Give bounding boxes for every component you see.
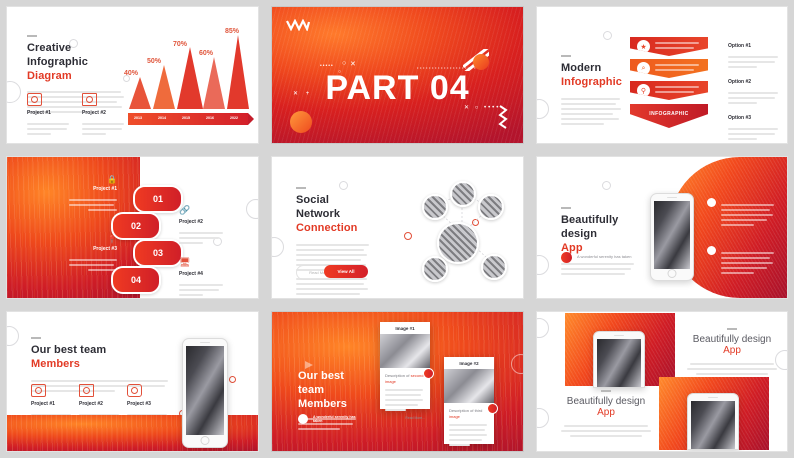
step-number-label: 03	[153, 248, 163, 258]
card-header: Image #1	[380, 322, 430, 334]
search-icon: ⌕	[637, 62, 650, 75]
project-label: Project #3	[127, 401, 171, 407]
chart-bar	[227, 35, 249, 109]
slide-beautifully-design-app-phone[interactable]: Beautifully design App A wonderful seren…	[536, 156, 788, 299]
slide-beautifully-design-app-duo[interactable]: Beautifully design App Beautifully desig…	[536, 311, 788, 452]
image-card[interactable]: Image #1 Description of second image Rea…	[380, 322, 430, 409]
step-block[interactable]: 🔗 Project #2	[179, 205, 225, 247]
step-number-label: 02	[131, 221, 141, 231]
slide-part-04-cover[interactable]: ••••• ○ ✕ ○○ ✕ + •••••••••••••••••••• ✕ …	[271, 6, 524, 144]
decor-ring	[6, 81, 21, 103]
project-desc	[27, 123, 73, 135]
page-title: Creative Infographic Diagram	[27, 42, 125, 83]
title-line-1: Creative Infographic	[27, 42, 88, 68]
card-caption: Description of third image	[449, 408, 489, 420]
band-text	[655, 86, 702, 96]
chart-value-label: 40%	[124, 70, 138, 77]
step-label: Project #1	[69, 186, 117, 192]
chart-bar	[129, 77, 151, 109]
title-line-2: Diagram	[27, 70, 125, 84]
project-desc	[82, 123, 128, 135]
decor-ring	[603, 31, 612, 40]
step-desc	[69, 259, 117, 271]
body-paragraph	[561, 98, 623, 125]
body-paragraph	[561, 263, 637, 275]
bullet-item[interactable]: A wonderful serenity has taken	[298, 414, 365, 424]
project-item[interactable]: Project #1	[27, 93, 73, 138]
chart-bar	[177, 47, 203, 109]
pin-icon: 📍	[69, 235, 117, 244]
step-desc	[69, 199, 117, 211]
chart-tick-label: 2015	[182, 116, 190, 120]
decor-ring	[602, 181, 611, 190]
camera-icon	[31, 384, 46, 397]
chart-tick-label: 2013	[134, 116, 142, 120]
step-label: Project #2	[179, 219, 225, 225]
slide-modern-infographic[interactable]: Modern Infographic ★ ⌕ ⚲	[536, 6, 788, 144]
project-item[interactable]: Project #2	[82, 93, 128, 138]
decor-ring-red	[229, 376, 236, 383]
zigzag-logo-icon	[286, 19, 310, 31]
slide-grid: Creative Infographic Diagram Project #1 …	[0, 0, 794, 458]
lock-icon: 🔒	[69, 175, 117, 184]
step-number-label: 01	[153, 194, 163, 204]
chart-bar	[203, 57, 225, 109]
option-label: Option #3	[728, 115, 780, 121]
option-item[interactable]: Option #1	[728, 43, 780, 68]
link-icon: 🔗	[179, 205, 225, 216]
chart-axis-bar: 2013 2014 2015 2016 2022	[128, 113, 248, 125]
option-desc	[728, 56, 780, 68]
feature-item[interactable]	[707, 245, 775, 277]
slide-our-best-team-members[interactable]: Our best team Members Project #1 Project…	[6, 311, 259, 452]
step-desc	[179, 284, 225, 296]
circle-icon	[290, 111, 312, 133]
network-node[interactable]	[481, 254, 507, 280]
arrow-stack: ★ ⌕ ⚲ INFOGRAPHIC	[630, 37, 708, 128]
card-image	[444, 369, 494, 403]
arrow-label: INFOGRAPHIC	[649, 111, 688, 117]
title-line-1: Social Network	[296, 194, 340, 220]
option-desc	[728, 128, 780, 140]
body-paragraph	[296, 278, 370, 299]
step-number-01[interactable]: 01	[133, 185, 183, 213]
decor-ring	[511, 354, 524, 374]
decor-ring	[271, 237, 284, 257]
card-desc	[449, 424, 489, 446]
title-line-1: Modern	[561, 62, 601, 74]
title-line-1: Our best team	[298, 370, 344, 396]
dice-icon	[127, 384, 142, 397]
project-label: Project #1	[27, 110, 73, 116]
decor-ring	[536, 408, 549, 428]
stripes-icon	[463, 49, 489, 71]
camera-icon	[27, 93, 42, 106]
bullet-label: A wonderful serenity has taken	[313, 415, 365, 423]
band-text	[655, 64, 702, 74]
slide-our-best-team-members-cards[interactable]: Our best team Members A wonderful sereni…	[271, 311, 524, 452]
decor-ring	[536, 318, 549, 338]
page-title: Our best team Members	[298, 370, 358, 411]
slide-numbered-projects[interactable]: 🔒 Project #1 📍 Project #3 01 02 03 04 🔗 …	[6, 156, 259, 299]
view-all-button[interactable]: View All	[324, 265, 368, 278]
triangle-bar-chart: 40% 50% 70% 60% 85% 2013 2014 2015 2016 …	[124, 20, 252, 125]
title-line-2: Connection	[296, 222, 370, 236]
title-line-2: App	[557, 407, 655, 418]
chart-value-label: 50%	[147, 58, 161, 65]
infographic-band[interactable]: ★	[630, 37, 708, 56]
title-line-1: Our best team	[31, 344, 106, 356]
red-image-panel	[565, 313, 675, 386]
decor-ring	[536, 255, 549, 275]
projector-icon	[79, 384, 94, 397]
option-item[interactable]: Option #2	[728, 79, 780, 104]
chart-bar	[153, 65, 175, 109]
title-kicker	[561, 207, 571, 209]
red-image-panel	[659, 377, 769, 450]
infographic-band[interactable]: ⚲	[630, 81, 708, 100]
step-block: 📍 Project #3	[69, 235, 117, 274]
body-paragraph	[683, 363, 781, 375]
card-caption: Description of second image	[385, 373, 425, 385]
step-number-02[interactable]: 02	[111, 212, 161, 240]
option-desc	[728, 92, 780, 104]
projector-icon	[82, 93, 97, 106]
band-text	[655, 42, 702, 52]
decor-ring	[246, 199, 259, 219]
star-icon: ★	[637, 40, 650, 53]
bullet-item[interactable]: A wonderful serenity has taken	[561, 252, 633, 263]
bullet-dot-icon	[707, 246, 716, 255]
step-number-03[interactable]: 03	[133, 239, 183, 267]
chart-value-label: 85%	[225, 28, 239, 35]
title-kicker	[296, 187, 306, 189]
bulb-icon: ⚲	[637, 84, 650, 97]
title-kicker	[27, 35, 37, 37]
project-label: Project #1	[31, 401, 75, 407]
phone-mockup	[687, 393, 739, 450]
option-label: Option #2	[728, 79, 780, 85]
title-kicker	[561, 55, 571, 57]
step-block[interactable]: 🖥 Project #4	[179, 257, 225, 299]
monitor-icon: 🖥	[179, 257, 225, 268]
card-desc	[385, 389, 425, 411]
bullet-dot-icon	[561, 252, 572, 263]
title-line-1: Beautifully design	[567, 396, 645, 407]
decor-ring	[536, 99, 549, 119]
title-line-1: Beautifully design	[693, 334, 771, 345]
phone-mockup	[650, 193, 694, 281]
triangle-icon	[304, 360, 314, 370]
title-line-1: Beautifully design	[561, 214, 618, 240]
network-node[interactable]	[422, 194, 448, 220]
page-title: Our best team Members	[31, 344, 171, 372]
feature-desc	[721, 204, 775, 229]
body-paragraph	[557, 425, 655, 437]
phone-mockup	[593, 331, 645, 388]
title-line-2: App	[683, 345, 781, 356]
slide-social-network-connection[interactable]: Social Network Connection Read More View…	[271, 156, 524, 299]
decor-ring	[6, 326, 19, 346]
block-title: Beautifully design App	[683, 334, 781, 356]
title-kicker	[31, 337, 41, 339]
chart-tick-label: 2016	[206, 116, 214, 120]
step-label: Project #3	[69, 246, 117, 252]
bullet-dot-icon	[707, 198, 716, 207]
title-line-2: Infographic	[561, 76, 623, 90]
feature-desc	[721, 252, 775, 277]
page-title: Social Network Connection	[296, 194, 370, 235]
infographic-band[interactable]: ⌕	[630, 59, 708, 78]
page-title: Modern Infographic	[561, 62, 623, 90]
image-card[interactable]: Image #2 Description of third image Read…	[444, 357, 494, 444]
option-label: Option #1	[728, 43, 780, 49]
step-number-label: 04	[131, 275, 141, 285]
step-label: Project #4	[179, 271, 225, 277]
project-label: Project #2	[79, 401, 123, 407]
chart-tick-label: 2022	[230, 116, 238, 120]
title-line-2: Members	[298, 398, 358, 412]
title-kicker	[601, 390, 611, 392]
network-node[interactable]	[478, 194, 504, 220]
network-node[interactable]	[450, 181, 476, 207]
step-desc	[179, 232, 225, 244]
infographic-arrow[interactable]: INFOGRAPHIC	[630, 104, 708, 128]
zigzag-icon	[496, 105, 510, 131]
network-node-center[interactable]	[437, 222, 479, 264]
x-icon: ✕	[350, 60, 356, 68]
card-image	[380, 334, 430, 368]
bullet-dot-icon	[298, 414, 308, 424]
title-kicker	[727, 328, 737, 330]
feature-item[interactable]	[707, 197, 775, 229]
block-title: Beautifully design App	[557, 396, 655, 418]
phone-mockup	[182, 338, 228, 448]
slide-creative-infographic-diagram[interactable]: Creative Infographic Diagram Project #1 …	[6, 6, 259, 144]
title-line-2: Members	[31, 358, 171, 372]
network-node[interactable]	[422, 256, 448, 282]
page-title: Beautifully design App	[561, 214, 637, 255]
step-block: 🔒 Project #1	[69, 175, 117, 214]
bullet-label: A wonderful serenity has taken	[577, 254, 633, 260]
view-all-label: View All	[337, 269, 354, 274]
option-item[interactable]: Option #3	[728, 115, 780, 140]
cover-headline: PART 04	[272, 69, 523, 108]
card-header: Image #2	[444, 357, 494, 369]
project-label: Project #2	[82, 110, 128, 116]
card-read-more-link[interactable]: Read More...	[385, 416, 425, 420]
o-icon: ○	[342, 60, 346, 67]
card-badge	[487, 403, 498, 414]
card-badge	[423, 368, 434, 379]
card-read-more-link[interactable]: Read More...	[449, 451, 489, 452]
chart-tick-label: 2014	[158, 116, 166, 120]
step-number-04[interactable]: 04	[111, 266, 161, 294]
